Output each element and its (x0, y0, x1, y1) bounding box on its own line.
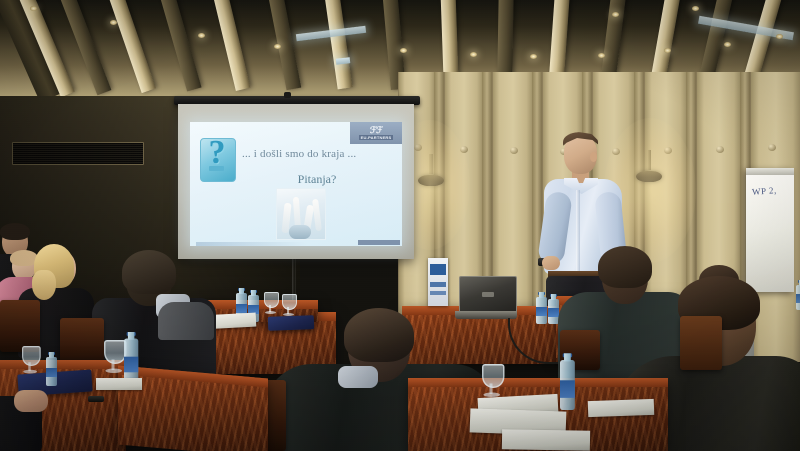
presenter-hand (542, 256, 560, 270)
wall-stud (510, 147, 518, 154)
wall-stud (716, 146, 724, 153)
attendee-hair (0, 223, 30, 240)
water-bottle (124, 332, 138, 384)
table-sign (428, 258, 448, 306)
mobile-phone[interactable] (88, 396, 104, 402)
slide-question: Pitanja? (242, 172, 392, 187)
wall-stud (414, 144, 422, 151)
paper-stack (502, 429, 590, 451)
logo-emblem-icon: ℱℱ (370, 126, 382, 134)
wall-stud (664, 147, 672, 154)
question-mark-icon: ? (198, 136, 236, 182)
laptop-logo (482, 292, 494, 297)
slide-headline: ... i došli smo do kraja ... (242, 148, 392, 160)
napkin (96, 378, 142, 390)
wall-stud (460, 146, 468, 153)
attendee-shoulder (158, 302, 214, 340)
downlight-icon (198, 33, 205, 38)
projection-screen: ℱℱ EU-PARTNERS ? ... i došli smo do kraj… (178, 104, 414, 259)
attendee-hair (122, 250, 176, 294)
ceiling-beam (196, 0, 250, 91)
downlight-icon (664, 48, 671, 53)
downlight-icon (598, 53, 605, 58)
attendee-collar (338, 366, 378, 388)
wall-sconce (418, 172, 444, 188)
downlight-icon (400, 48, 407, 53)
downlight-icon (274, 44, 281, 49)
downlight-icon (612, 12, 619, 17)
eu-partners-logo: ℱℱ EU-PARTNERS (350, 122, 402, 144)
downlight-icon (470, 52, 477, 57)
downlight-icon (530, 54, 537, 59)
slide-footer (190, 239, 402, 246)
chair (0, 300, 40, 352)
attendee-hair (344, 308, 414, 362)
presentation-slide: ℱℱ EU-PARTNERS ? ... i došli smo do kraj… (190, 122, 402, 246)
wall-stud (768, 144, 776, 151)
flipchart-clamp (746, 168, 794, 175)
paper-stack (588, 399, 655, 417)
attendee-hair (32, 270, 56, 300)
downlight-icon (724, 42, 731, 47)
slide-photo (276, 188, 326, 240)
flipchart-handwriting: WP 2, (752, 185, 777, 197)
ceiling-beam (314, 0, 353, 89)
logo-text: EU-PARTNERS (359, 135, 394, 140)
downlight-icon (110, 20, 117, 25)
laptop-lid (459, 276, 517, 314)
chair (680, 316, 722, 370)
wall-sconce (636, 168, 662, 184)
attendee-foreground-left-hand (0, 378, 90, 451)
downlight-icon (692, 6, 699, 11)
downlight-icon (776, 34, 783, 39)
water-bottle (560, 353, 575, 410)
attendee-hand (14, 390, 48, 412)
conference-room-photo: WP 2, ℱℱ EU-PARTNERS ? ... i došli smo d… (0, 0, 800, 451)
water-bottle (536, 292, 547, 324)
downlight-icon (30, 6, 37, 11)
